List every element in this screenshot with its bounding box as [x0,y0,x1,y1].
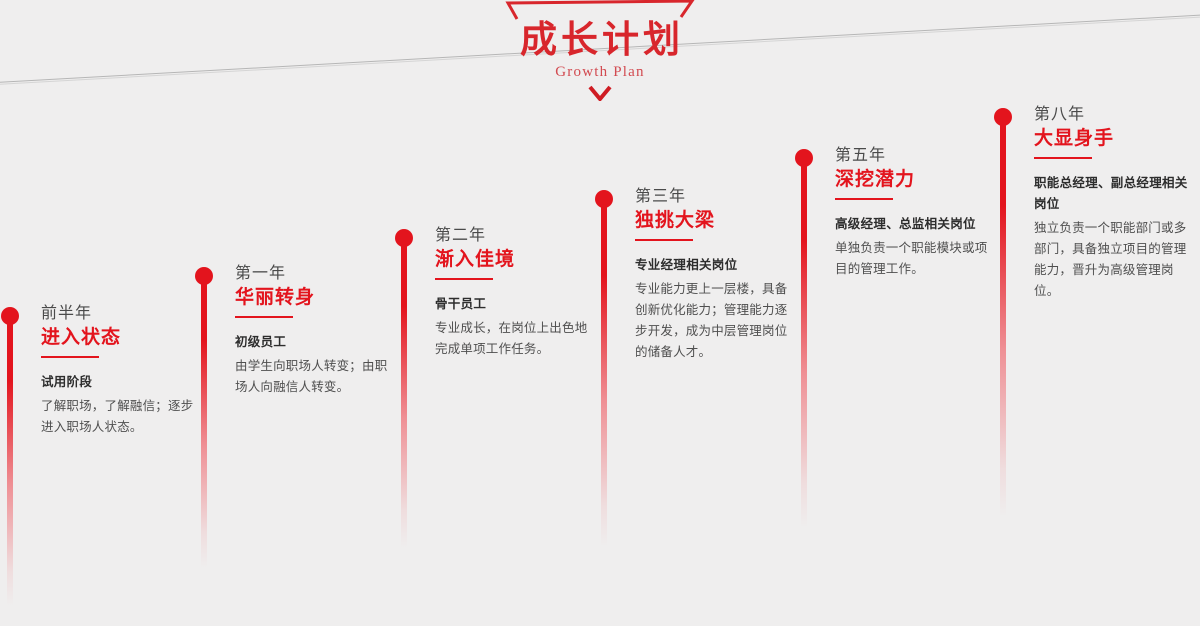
timeline-year: 第八年 [1034,104,1194,126]
timeline-description: 单独负责一个职能模块或项目的管理工作。 [835,238,995,280]
timeline-slogan: 进入状态 [41,325,201,350]
banner: 成长计划 Growth Plan [470,0,730,101]
timeline-description: 由学生向职场人转变；由职场人向融信人转变。 [235,356,395,398]
timeline-year: 第二年 [435,225,595,247]
timeline-rod [801,158,807,528]
timeline-slogan: 独挑大梁 [635,208,795,233]
timeline-content: 第八年 大显身手 职能总经理、副总经理相关岗位 独立负责一个职能部门或多部门，具… [1034,104,1194,302]
timeline-description: 专业成长，在岗位上出色地完成单项工作任务。 [435,318,595,360]
timeline-rod [1000,117,1006,517]
growth-plan-infographic: 成长计划 Growth Plan 前半年 进入状态 试用阶段 了解职场，了解融信… [0,0,1200,626]
timeline-role: 骨干员工 [435,294,595,315]
timeline-content: 第二年 渐入佳境 骨干员工 专业成长，在岗位上出色地完成单项工作任务。 [435,225,595,360]
timeline-slogan: 大显身手 [1034,126,1194,151]
timeline-description: 专业能力更上一层楼，具备创新优化能力；管理能力逐步开发，成为中层管理岗位的储备人… [635,279,795,363]
timeline-rod [401,238,407,548]
timeline-divider [41,356,99,358]
timeline-divider [235,316,293,318]
timeline-role: 初级员工 [235,332,395,353]
timeline-description: 了解职场，了解融信；逐步进入职场人状态。 [41,396,201,438]
timeline-description: 独立负责一个职能部门或多部门，具备独立项目的管理能力，晋升为高级管理岗位。 [1034,218,1194,302]
timeline-year: 第五年 [835,145,995,167]
bracket-top-icon [505,0,695,20]
banner-title-cn: 成长计划 [470,18,730,62]
chevron-down-icon [587,85,613,101]
timeline-role: 职能总经理、副总经理相关岗位 [1034,173,1194,215]
timeline-role: 专业经理相关岗位 [635,255,795,276]
timeline-rod [201,276,207,568]
timeline-divider [435,278,493,280]
timeline-role: 高级经理、总监相关岗位 [835,214,995,235]
timeline-rod [601,199,607,547]
timeline-slogan: 深挖潜力 [835,167,995,192]
timeline-year: 前半年 [41,303,201,325]
timeline-year: 第一年 [235,263,395,285]
timeline-content: 第五年 深挖潜力 高级经理、总监相关岗位 单独负责一个职能模块或项目的管理工作。 [835,145,995,280]
timeline-divider [1034,157,1092,159]
timeline-year: 第三年 [635,186,795,208]
timeline-divider [635,239,693,241]
timeline-divider [835,198,893,200]
timeline-content: 第三年 独挑大梁 专业经理相关岗位 专业能力更上一层楼，具备创新优化能力；管理能… [635,186,795,363]
timeline-role: 试用阶段 [41,372,201,393]
timeline-slogan: 渐入佳境 [435,247,595,272]
banner-title-en: Growth Plan [470,63,730,81]
timeline-rod [7,316,13,606]
timeline-content: 第一年 华丽转身 初级员工 由学生向职场人转变；由职场人向融信人转变。 [235,263,395,398]
timeline-slogan: 华丽转身 [235,285,395,310]
timeline-content: 前半年 进入状态 试用阶段 了解职场，了解融信；逐步进入职场人状态。 [41,303,201,438]
